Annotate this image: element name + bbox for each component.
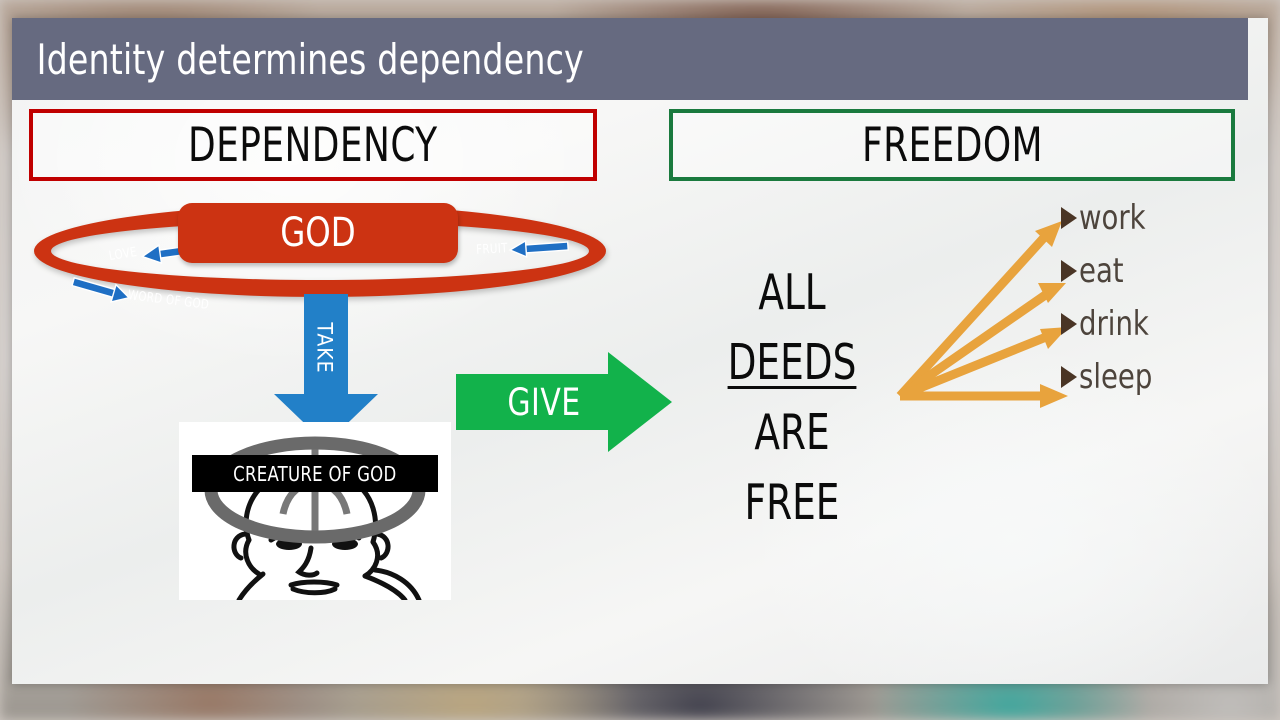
triangle-bullet-icon [1061,207,1077,229]
fruit-arrow-icon [508,236,570,260]
statement-line-1: ALL [699,258,886,328]
freedom-header-label: FREEDOM [861,118,1042,173]
activity-label-eat: eat [1079,251,1124,291]
statement-line-4: FREE [699,468,886,538]
creature-of-god-caption-bar: CREATURE OF GOD [192,455,438,492]
statement-line-2: DEEDS [699,328,886,398]
god-label: GOD [280,210,356,256]
activity-row-sleep: sleep [1061,357,1161,397]
freedom-header-box: FREEDOM [669,109,1235,181]
freedom-fan-arrows-icon [882,203,1082,418]
all-deeds-are-free-statement: ALL DEEDS ARE FREE [682,258,902,538]
page-title: Identity determines dependency [12,35,584,84]
give-arrow-label: GIVE [465,352,623,452]
triangle-bullet-icon [1061,260,1077,282]
activity-label-work: work [1079,198,1146,238]
take-arrow-label: TAKE [313,322,337,373]
triangle-bullet-icon [1061,366,1077,388]
activity-row-eat: eat [1061,251,1129,291]
word-of-god-arrow-icon [70,276,134,304]
god-box: GOD [178,203,458,263]
slide-canvas: Identity determines dependency DEPENDENC… [12,18,1268,684]
activity-label-drink: drink [1079,304,1149,344]
dependency-header-label: DEPENDENCY [188,118,438,173]
creature-of-god-image [179,422,451,600]
activity-row-work: work [1061,198,1153,238]
activity-row-drink: drink [1061,304,1157,344]
activity-label-sleep: sleep [1079,357,1152,397]
triangle-bullet-icon [1061,313,1077,335]
slide-title-bar: Identity determines dependency [12,18,1248,100]
statement-line-3: ARE [699,398,886,468]
cycle-label-fruit: FRUIT [476,241,508,258]
creature-of-god-caption: CREATURE OF GOD [233,462,396,486]
dependency-header-box: DEPENDENCY [29,109,597,181]
